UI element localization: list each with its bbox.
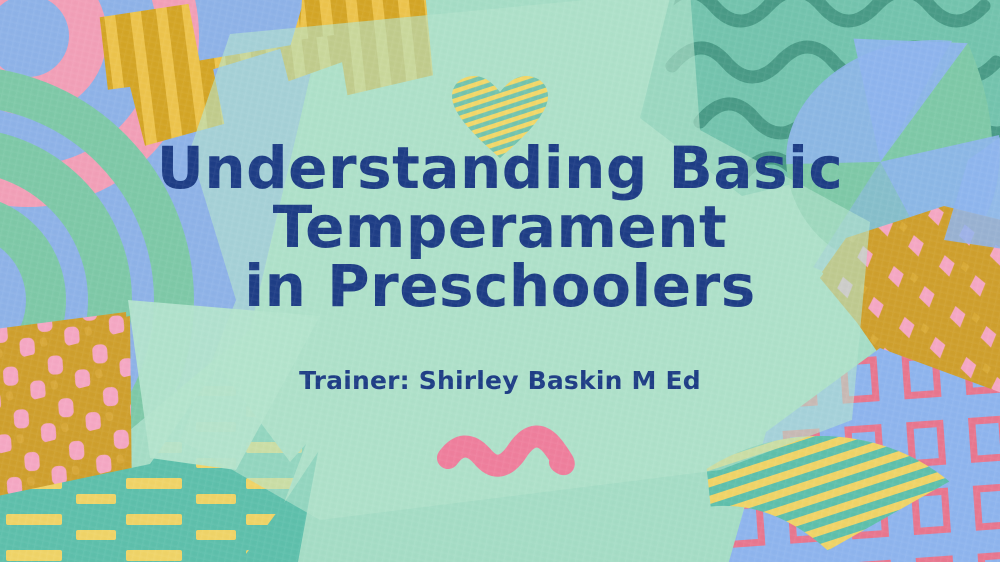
slide-content: Understanding Basic Temperament in Presc… <box>0 0 1000 562</box>
presenter-subtitle: Trainer: Shirley Baskin M Ed <box>299 366 701 395</box>
title-line-2: Temperament <box>110 199 890 256</box>
page-title: Understanding Basic Temperament in Presc… <box>110 140 890 314</box>
title-slide: Understanding Basic Temperament in Presc… <box>0 0 1000 562</box>
title-line-3: in Preschoolers <box>110 258 890 315</box>
title-line-1: Understanding Basic <box>110 140 890 197</box>
